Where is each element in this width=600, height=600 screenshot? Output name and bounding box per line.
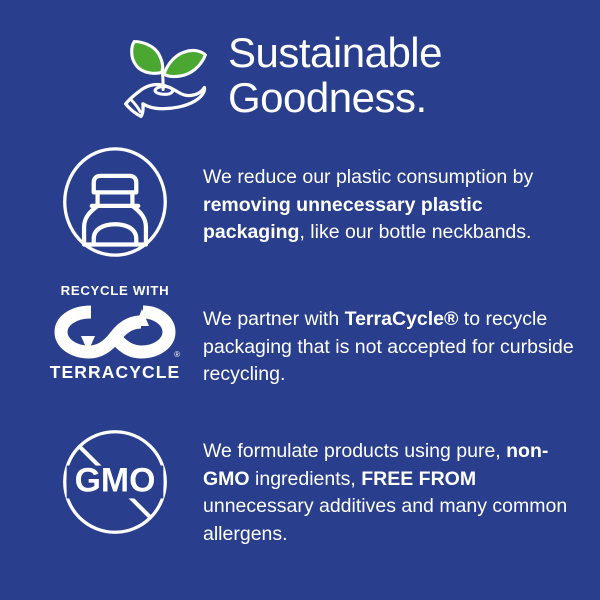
benefit-row-plastic: We reduce our plastic consumption by rem… (0, 144, 600, 284)
poster-header: Sustainable Goodness. (0, 0, 600, 126)
text-part: We reduce our plastic consumption by (203, 166, 533, 188)
text-part: , like our bottle neckbands. (299, 221, 531, 243)
text-part: ingredients, (250, 468, 362, 490)
registered-trademark-symbol: ® (174, 351, 180, 359)
terracycle-top-label: RECYCLE WITH (61, 284, 170, 297)
benefit-row-terracycle: RECYCLE WITH ® TERRACYCLE (0, 284, 600, 424)
terracycle-bottom-label: TERRACYCLE (50, 364, 181, 382)
gmo-label: GMO (75, 462, 156, 500)
terracycle-logo-icon: RECYCLE WITH ® TERRACYCLE (50, 284, 180, 382)
benefit-text-terracycle: We partner with TerraCycle® to recycle p… (180, 284, 600, 389)
page-title: Sustainable Goodness. (228, 31, 442, 121)
terracycle-lockup: RECYCLE WITH ® TERRACYCLE (50, 284, 180, 382)
benefit-text-gmo: We formulate products using pure, non-GM… (180, 424, 600, 549)
text-part: We formulate products using pure, (203, 440, 506, 462)
benefit-row-gmo: GMO We formulate products using pure, no… (0, 424, 600, 574)
hand-holding-sprout-icon (118, 30, 214, 126)
text-part-bold: FREE FROM (361, 468, 476, 490)
text-part-bold: TerraCycle® (345, 308, 459, 330)
no-gmo-icon: GMO (50, 424, 180, 540)
benefit-text-plastic: We reduce our plastic consumption by rem… (180, 144, 600, 247)
benefit-rows: We reduce our plastic consumption by rem… (0, 144, 600, 574)
text-part: We partner with (203, 308, 345, 330)
terracycle-infinity-mark: ® (51, 302, 179, 360)
text-part: unnecessary additives and many common al… (203, 495, 567, 545)
plastic-bottle-in-circle-icon (50, 144, 180, 260)
sustainable-goodness-poster: Sustainable Goodness. (0, 0, 600, 600)
